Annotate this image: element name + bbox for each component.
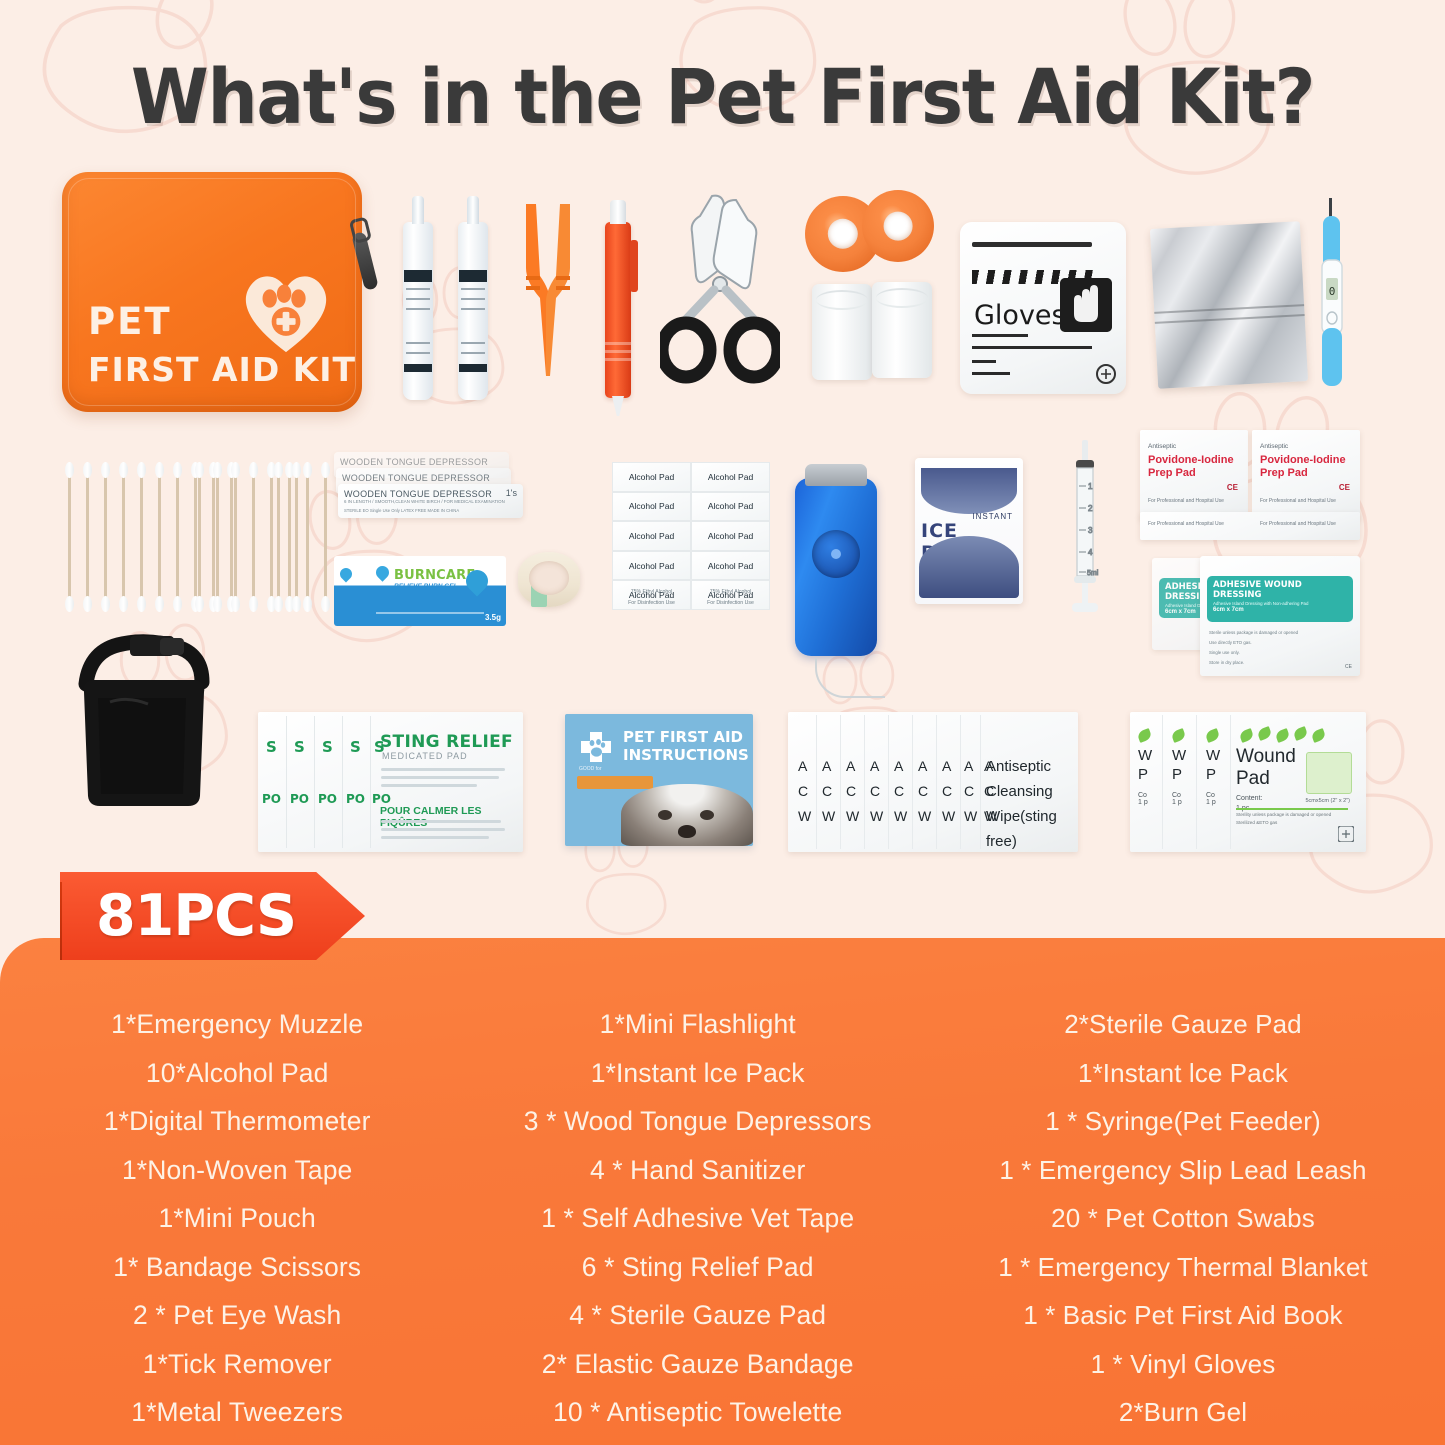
contents-column-3: 2*Sterile Gauze Pad 1*Instant lce Pack 1…: [935, 1000, 1431, 1435]
mini-crank-flashlight-icon: [795, 478, 877, 656]
wound-dressing-title: ADHESIVE WOUNDDRESSING: [1213, 580, 1302, 600]
list-item: 1*Emergency Muzzle: [111, 1000, 363, 1049]
case-label-line2: FIRST AID KIT: [88, 350, 356, 389]
page-title: What's in the Pet First Aid Kit?: [51, 52, 1395, 141]
list-item: 1*Mini Pouch: [159, 1194, 316, 1243]
list-item: 1*Tick Remover: [143, 1340, 332, 1389]
contents-panel: 1*Emergency Muzzle 10*Alcohol Pad 1*Digi…: [0, 938, 1445, 1445]
list-item: 1 * Self Adhesive Vet Tape: [541, 1194, 854, 1243]
contents-column-2: 1*Mini Flashlight 1*Instant lce Pack 3 *…: [460, 1000, 935, 1435]
digital-thermometer-icon: 0: [1320, 198, 1344, 388]
wound-pad-label: WoundPad: [1236, 746, 1296, 790]
vet-tape-roll-icon: [862, 190, 934, 262]
gauze-bandage-roll-icon: [812, 284, 872, 380]
svg-text:2: 2: [1088, 504, 1093, 513]
list-item: 20 * Pet Cotton Swabs: [1051, 1194, 1315, 1243]
ce-mark: CE: [1227, 483, 1238, 492]
povidone-antiseptic-label: Antiseptic: [1148, 443, 1176, 450]
burncare-weight: 3.5g: [485, 613, 501, 622]
tongue-depressor-sub: 6 IN LENGTH / SMOOTH,CLEAN WHITE BIRCH /…: [344, 499, 505, 504]
heart-paw-cross-icon: [238, 264, 334, 356]
povidone-iodine-prep-pad-icon: Antiseptic Povidone-IodinePrep Pad CE Fo…: [1252, 430, 1360, 520]
burn-gel-sachet-icon: BURNCARE RELIEVE BURN GEL 3.5g: [368, 556, 506, 626]
list-item: 1*Instant lce Pack: [1078, 1049, 1288, 1098]
alcohol-pad-footer1: 75% Ethyl Alcohol: [631, 589, 673, 595]
syringe-icon: 1 2 3 4 5ml: [1070, 440, 1100, 615]
alcohol-pad-icon: Alcohol Pad 75% Ethyl Alcohol For Disinf…: [612, 580, 691, 610]
gauze-bandage-roll-icon: [872, 282, 932, 378]
zipper-icon: [351, 231, 379, 291]
wound-pad-content: Content:1 pc: [1236, 794, 1262, 814]
alcohol-pad-icon: Alcohol Pad: [612, 521, 691, 551]
tongue-depressor-qty: 1's: [506, 488, 517, 498]
antiseptic-wipe-label: AntisepticCleansingWipe(sting free): [986, 754, 1078, 854]
piece-count-badge: 81PCS: [60, 872, 365, 960]
list-item: 1 * Emergency Slip Lead Leash: [999, 1146, 1366, 1195]
alcohol-pad-footer2: For Disinfection Use: [628, 600, 675, 606]
emergency-thermal-blanket-icon: [1150, 221, 1308, 389]
alcohol-pad-icon: Alcohol Pad 75% Ethyl Alcohol For Disinf…: [691, 580, 770, 610]
alcohol-pad-icon: Alcohol Pad: [612, 492, 691, 522]
antiseptic-towelette-icon: ACW ACW ACW ACW ACW ACW ACW ACW ACW Anti…: [788, 712, 1078, 852]
wound-dressing-sub: Adhesive Island Dressing with Non-adheri…: [1213, 601, 1308, 606]
list-item: 1*Instant lce Pack: [591, 1049, 805, 1098]
list-item: 1 * Emergency Thermal Blanket: [998, 1243, 1367, 1292]
paw-cross-icon: [579, 730, 613, 764]
list-item: 4 * Hand Sanitizer: [590, 1146, 805, 1195]
povidone-iodine-prep-pad-icon: Antiseptic Povidone-IodinePrep Pad CE Fo…: [1140, 430, 1248, 520]
alcohol-pad-grid: Alcohol Pad Alcohol Pad Alcohol Pad Alco…: [612, 462, 770, 610]
list-item: 2*Burn Gel: [1119, 1388, 1247, 1437]
sting-relief-title: STING RELIEF: [380, 732, 513, 752]
svg-text:0: 0: [1329, 285, 1336, 298]
eye-wash-bottle-icon: [403, 222, 433, 400]
svg-text:3: 3: [1088, 526, 1093, 535]
list-item: 1*Digital Thermometer: [104, 1097, 371, 1146]
list-item: 1*Metal Tweezers: [131, 1388, 343, 1437]
list-item: 1* Bandage Scissors: [113, 1243, 361, 1292]
tongue-depressor-title: WOODEN TONGUE DEPRESSOR: [344, 489, 492, 499]
list-item: 6 * Sting Relief Pad: [582, 1243, 814, 1292]
first-aid-case: PET FIRST AID KIT: [62, 172, 362, 412]
first-aid-booklet-icon: PET FIRST AIDINSTRUCTIONS GOOD for: [565, 714, 753, 846]
booklet-title: PET FIRST AIDINSTRUCTIONS: [623, 728, 749, 764]
wound-dressing-size: 6cm x 7cm: [1213, 607, 1244, 613]
sting-relief-pad-icon: S S S S S PO PO PO PO PO STING RELIEF ME…: [258, 712, 523, 852]
svg-text:5ml: 5ml: [1087, 570, 1099, 577]
list-item: 4 * Sterile Gauze Pad: [569, 1291, 826, 1340]
piece-count-label: 81PCS: [96, 883, 296, 949]
gloves-label: Gloves: [974, 300, 1066, 331]
booklet-band: [577, 776, 653, 789]
alcohol-pad-footer1: 75% Ethyl Alcohol: [710, 589, 752, 595]
emergency-muzzle-icon: [68, 632, 218, 812]
alcohol-pad-footer2: For Disinfection Use: [707, 600, 754, 606]
tongue-depressor-icon: WOODEN TONGUE DEPRESSOR 6 IN LENGTH / SM…: [338, 484, 523, 518]
list-item: 1 * Basic Pet First Aid Book: [1023, 1291, 1342, 1340]
sting-relief-fr-title: POUR CALMER LES PIQÛRES: [380, 805, 523, 829]
dog-photo: [621, 784, 753, 846]
list-item: 1*Non-Woven Tape: [122, 1146, 352, 1195]
list-item: 2* Elastic Gauze Bandage: [542, 1340, 854, 1389]
tongue-depressor-footer: STERILE EO Single Use Only LATEX FREE MA…: [344, 508, 459, 513]
list-item: 1 * Vinyl Gloves: [1091, 1340, 1276, 1389]
alcohol-pad-icon: Alcohol Pad: [691, 551, 770, 581]
povidone-footer: For Professional and Hospital Use: [1148, 498, 1224, 504]
wound-pad-icon: WP WP WP WoundPad Co1 p Co1 p Co1 p Cont…: [1130, 712, 1366, 852]
plastic-tweezers-icon: [520, 198, 576, 384]
alcohol-pad-icon: Alcohol Pad: [691, 521, 770, 551]
gloves-pack-icon: Gloves: [960, 222, 1126, 394]
svg-text:1: 1: [1088, 482, 1093, 491]
eye-wash-bottle-icon: [458, 222, 488, 400]
sting-relief-subtitle: MEDICATED PAD: [382, 751, 468, 761]
contents-column-1: 1*Emergency Muzzle 10*Alcohol Pad 1*Digi…: [14, 1000, 460, 1435]
instant-ice-pack-icon: INSTANT ICE PACK: [915, 458, 1023, 604]
burncare-sub: RELIEVE BURN GEL: [394, 583, 458, 590]
alcohol-pad-icon: Alcohol Pad: [691, 462, 770, 492]
case-label-line1: PET: [88, 300, 172, 343]
povidone-pad-back-sheet: For Professional and Hospital Use For Pr…: [1140, 512, 1360, 540]
bandage-scissors-icon: [660, 192, 780, 384]
wound-pad-size: 5cmx5cm (2" x 2"): [1305, 798, 1350, 804]
list-item: 1 * Syringe(Pet Feeder): [1045, 1097, 1320, 1146]
tick-remover-pen-icon: [605, 222, 631, 398]
infographic-root: What's in the Pet First Aid Kit? PET FIR…: [0, 0, 1445, 1445]
alcohol-pad-icon: Alcohol Pad: [691, 492, 770, 522]
alcohol-pad-icon: Alcohol Pad: [612, 551, 691, 581]
list-item: 2*Sterile Gauze Pad: [1064, 1000, 1302, 1049]
list-item: 2 * Pet Eye Wash: [133, 1291, 341, 1340]
list-item: 1*Mini Flashlight: [600, 1000, 796, 1049]
svg-text:4: 4: [1088, 548, 1093, 557]
list-item: 10*Alcohol Pad: [146, 1049, 329, 1098]
list-item: 10 * Antiseptic Towelette: [553, 1388, 842, 1437]
adhesive-wound-dressing-icon: ADHESIVE WOUNDDRESSING Adhesive Island D…: [1200, 556, 1360, 676]
non-woven-tape-roll-icon: [518, 552, 580, 607]
list-item: 3 * Wood Tongue Depressors: [524, 1097, 872, 1146]
alcohol-pad-icon: Alcohol Pad: [612, 462, 691, 492]
burncare-name: BURNCARE: [394, 568, 475, 583]
